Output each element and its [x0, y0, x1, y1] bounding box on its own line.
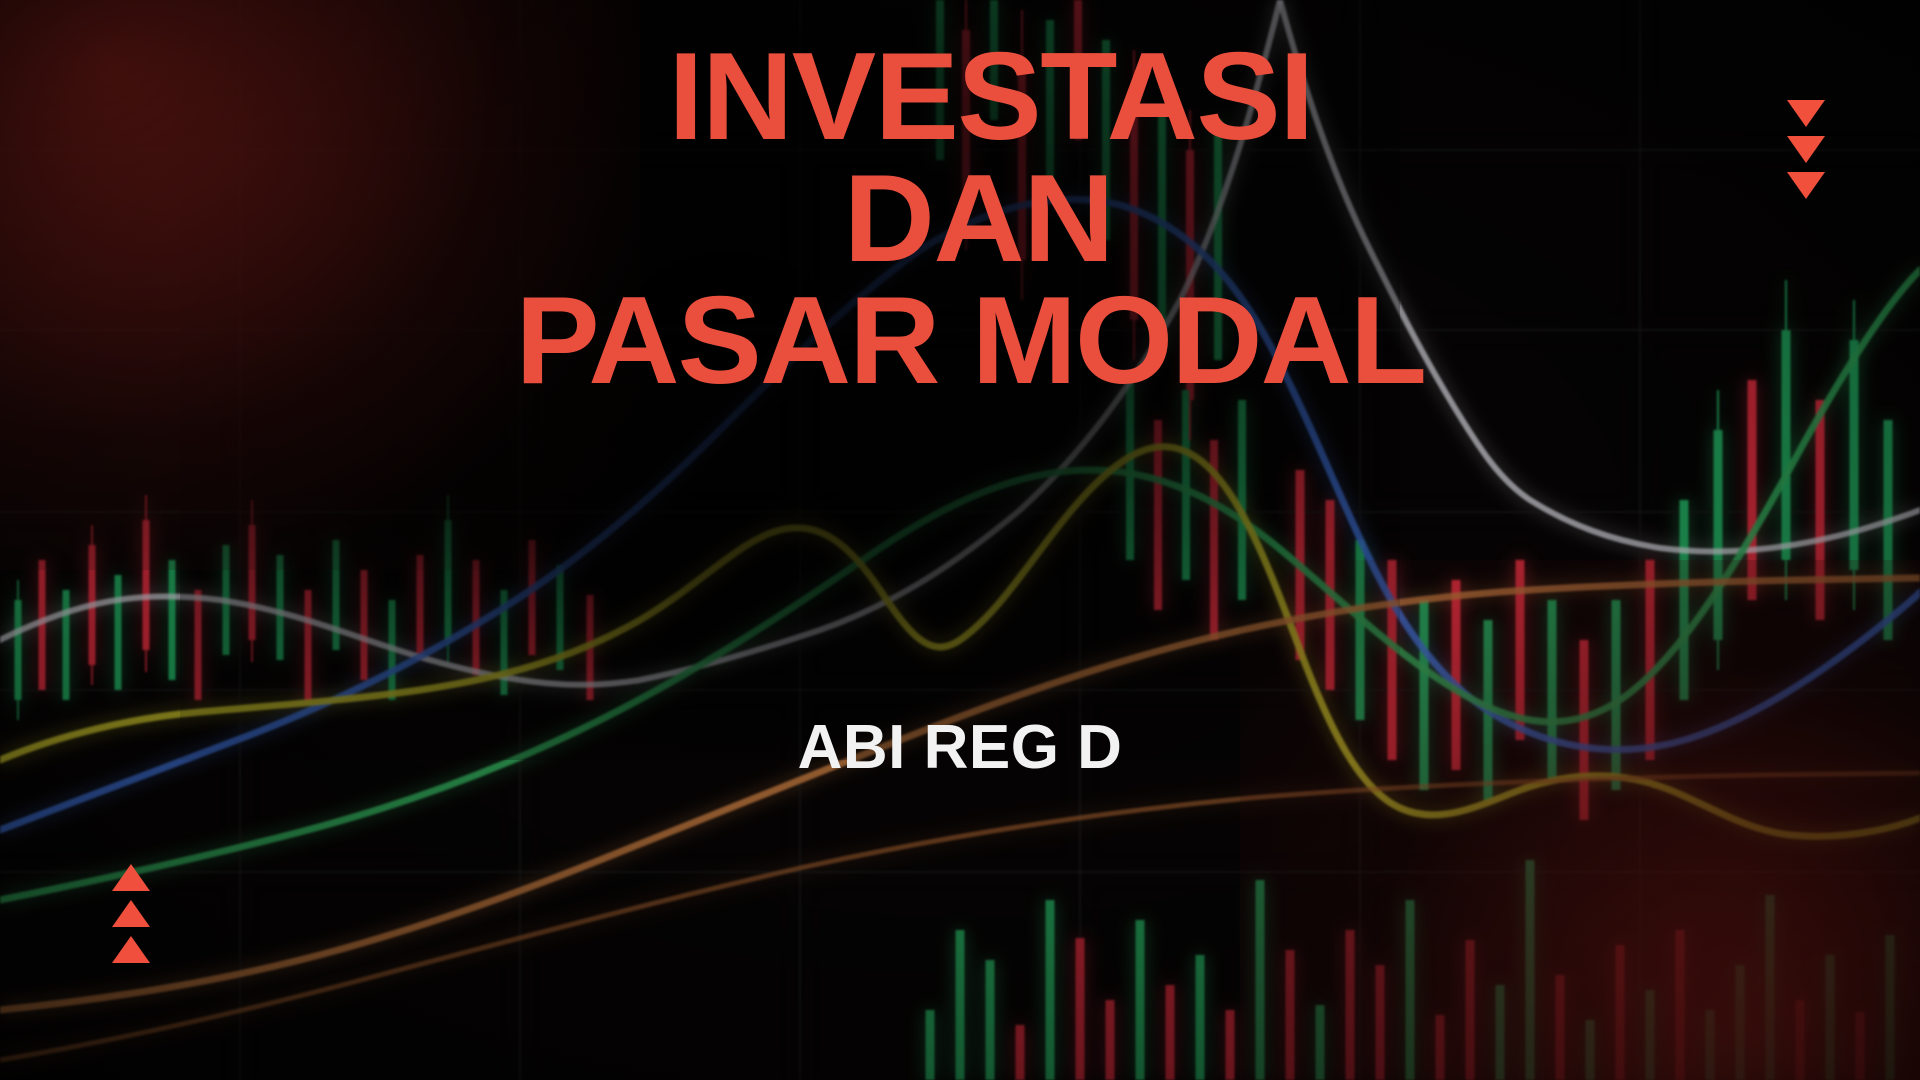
bullish-arrows	[112, 864, 150, 963]
title-line-2: DAN	[0, 158, 1920, 280]
triangle-down-icon	[1787, 136, 1825, 163]
slide-root: INVESTASI DAN PASAR MODAL ABI REG D	[0, 0, 1920, 1080]
triangle-down-icon	[1787, 172, 1825, 199]
title-line-3: PASAR MODAL	[0, 280, 1920, 402]
subtitle: ABI REG D	[0, 712, 1920, 783]
page-title: INVESTASI DAN PASAR MODAL	[0, 36, 1920, 402]
bearish-arrows	[1787, 100, 1825, 199]
triangle-up-icon	[112, 936, 150, 963]
triangle-up-icon	[112, 864, 150, 891]
triangle-up-icon	[112, 900, 150, 927]
title-line-1: INVESTASI	[0, 36, 1920, 158]
slide-content: INVESTASI DAN PASAR MODAL ABI REG D	[0, 0, 1920, 1080]
triangle-down-icon	[1787, 100, 1825, 127]
